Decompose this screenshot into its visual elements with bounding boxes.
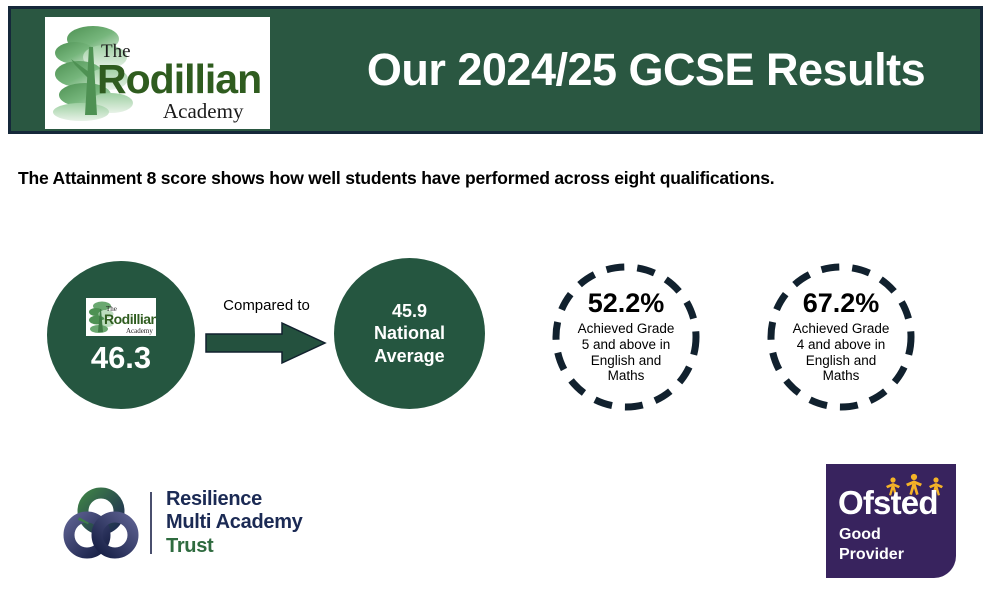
- subtitle-text: The Attainment 8 score shows how well st…: [18, 168, 968, 189]
- trust-name-line3: Trust: [166, 535, 303, 559]
- ofsted-good-provider-badge: Ofsted Good Provider: [826, 464, 956, 578]
- rodillian-academy-logo: The Rodillian Academy: [45, 17, 270, 129]
- school-logo: The Rodillian Academy: [45, 17, 270, 129]
- grade4-description: Achieved Grade 4 and above in English an…: [793, 321, 890, 385]
- trust-name: Resilience Multi Academy Trust: [166, 488, 303, 559]
- national-average-label: National Average: [374, 322, 445, 367]
- rodillian-academy-logo-small: The Rodillian Academy: [86, 298, 156, 336]
- comparison-block: Compared to: [204, 297, 329, 366]
- national-average-circle: 45.9 National Average: [334, 258, 485, 409]
- svg-text:Academy: Academy: [163, 99, 244, 123]
- grade4-percentage-circle: 67.2% Achieved Grade 4 and above in Engl…: [766, 262, 916, 412]
- grade4-percent-value: 67.2%: [803, 290, 880, 317]
- arrow-right-icon: [204, 320, 329, 366]
- logo-divider: [150, 492, 152, 554]
- compared-to-label: Compared to: [204, 297, 329, 314]
- interlocking-rings-icon: [62, 484, 140, 562]
- page-title: Our 2024/25 GCSE Results: [316, 9, 976, 131]
- trust-name-line2: Multi Academy: [166, 511, 303, 535]
- ofsted-rating-label: Good Provider: [839, 525, 904, 565]
- header-band: The Rodillian Academy Our 2024/25 GCSE R…: [8, 6, 983, 134]
- grade5-percentage-circle: 52.2% Achieved Grade 5 and above in Engl…: [551, 262, 701, 412]
- ofsted-wordmark: Ofsted: [838, 486, 938, 519]
- national-average-value: 45.9: [392, 300, 427, 323]
- attainment-score-value: 46.3: [91, 342, 151, 373]
- svg-text:Rodillian: Rodillian: [97, 56, 261, 102]
- grade5-description: Achieved Grade 5 and above in English an…: [578, 321, 675, 385]
- svg-text:Rodillian: Rodillian: [104, 311, 156, 327]
- attainment-score-circle: The Rodillian Academy 46.3: [47, 261, 195, 409]
- grade5-percent-value: 52.2%: [588, 290, 665, 317]
- trust-name-line1: Resilience: [166, 488, 303, 512]
- resilience-multi-academy-trust-logo: Resilience Multi Academy Trust: [62, 483, 322, 563]
- svg-text:Academy: Academy: [126, 327, 153, 335]
